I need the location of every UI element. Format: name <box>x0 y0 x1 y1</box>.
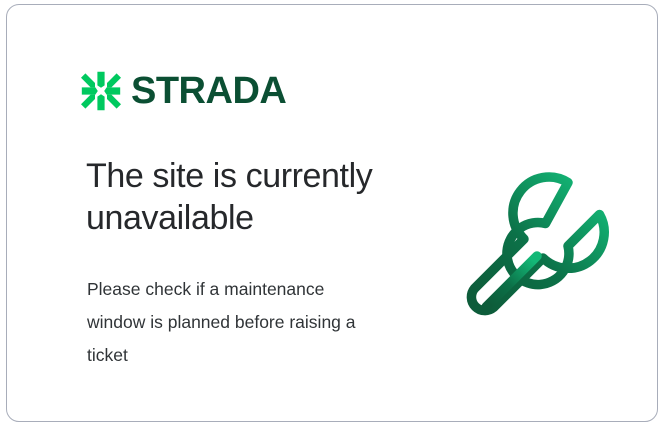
page-title: The site is currently unavailable <box>86 155 446 239</box>
wrench-icon <box>459 155 629 325</box>
brand-name: STRADA <box>131 72 286 110</box>
status-description: Please check if a maintenance window is … <box>87 273 387 372</box>
brand-lockup: STRADA <box>81 71 286 111</box>
starburst-asterisk-icon <box>81 71 121 111</box>
status-card: STRADA The site is currently unavailable… <box>6 4 658 422</box>
